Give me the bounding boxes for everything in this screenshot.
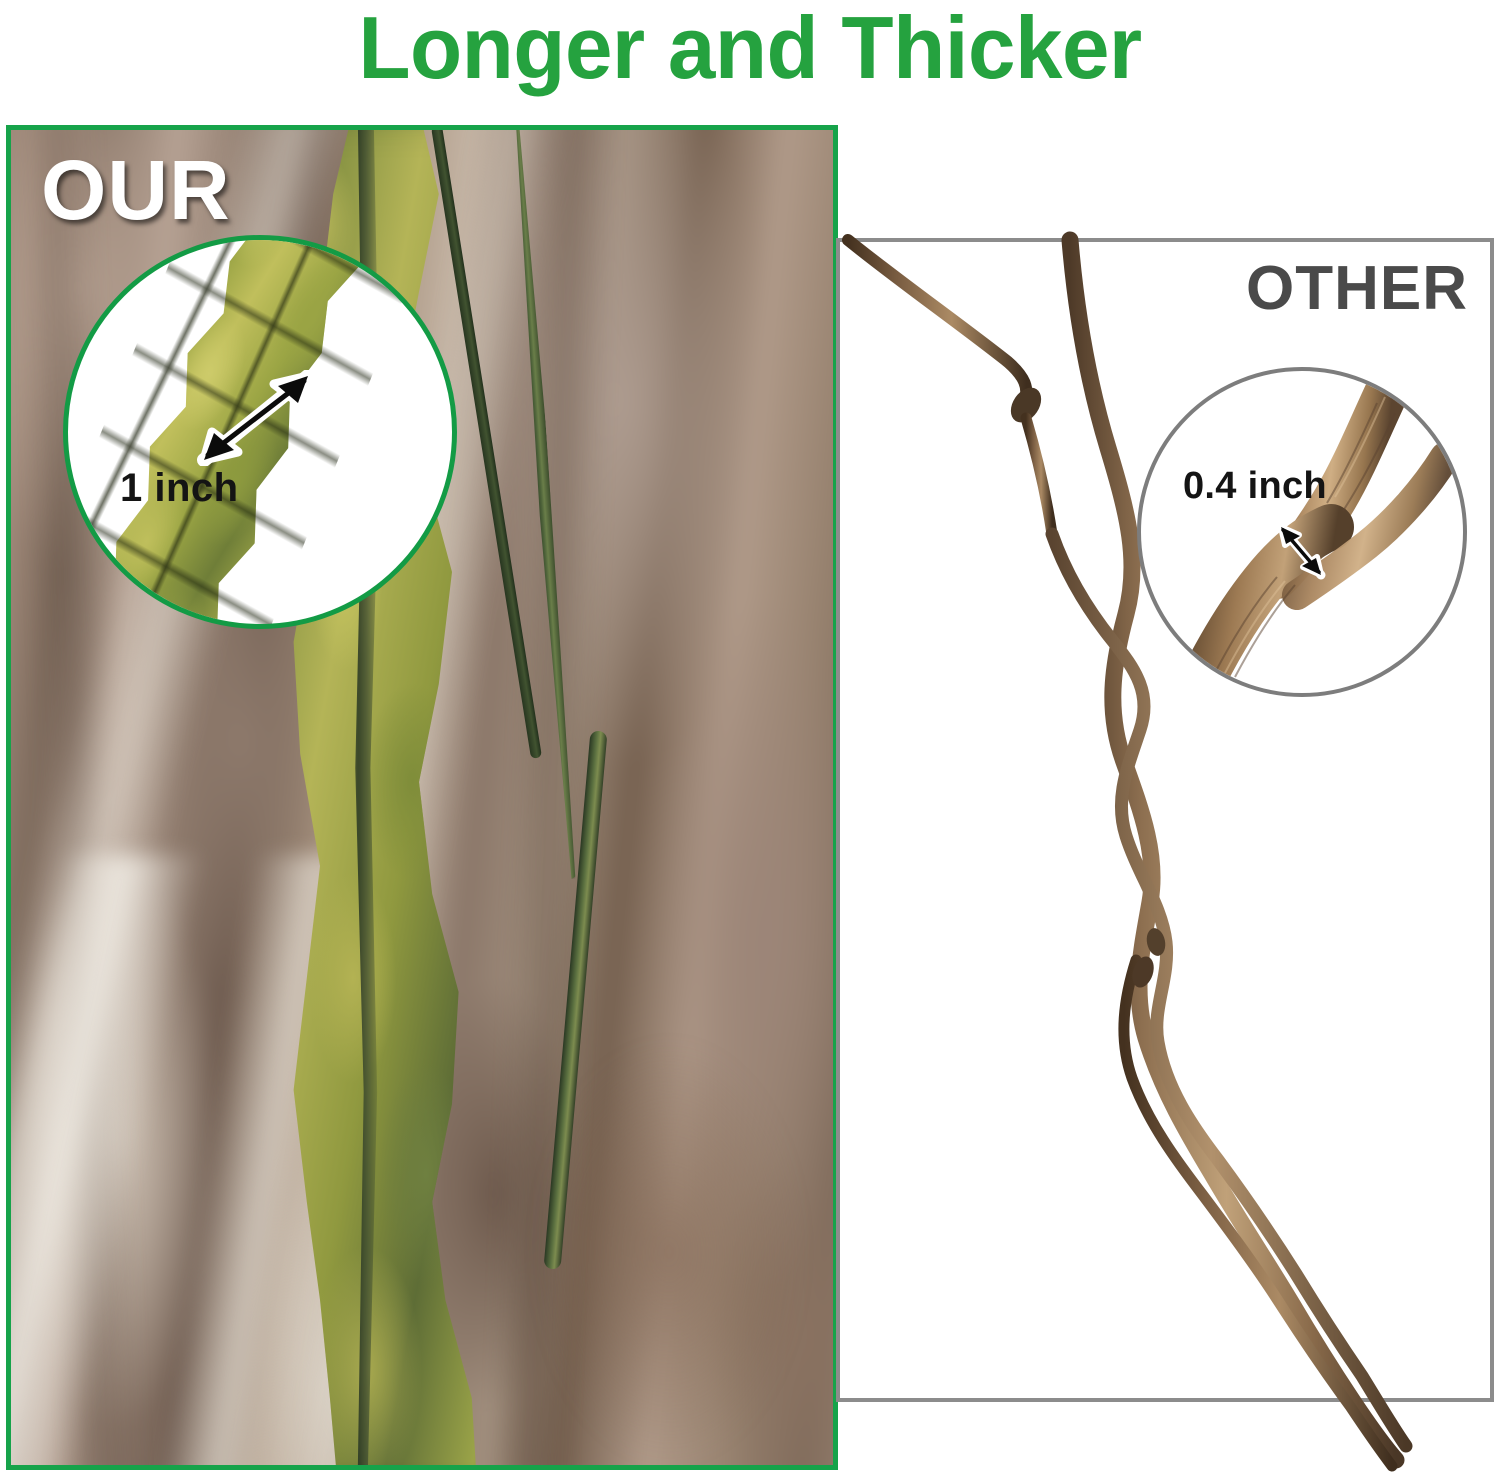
our-magnifier-circle: 1 inch xyxy=(63,235,457,629)
page-title: Longer and Thicker xyxy=(23,0,1478,100)
other-product-panel: OTHER xyxy=(836,238,1494,1402)
our-measurement-label: 1 inch xyxy=(120,468,239,508)
magnified-thin-vine-closeup xyxy=(1139,369,1467,697)
our-label: OUR xyxy=(41,148,231,232)
our-product-panel: OUR 1 inch xyxy=(6,125,838,1470)
other-magnifier-circle: 0.4 inch xyxy=(1137,367,1467,697)
other-label: OTHER xyxy=(1246,258,1468,320)
magnified-vine-closeup xyxy=(63,235,430,629)
other-measurement-label: 0.4 inch xyxy=(1183,467,1327,505)
